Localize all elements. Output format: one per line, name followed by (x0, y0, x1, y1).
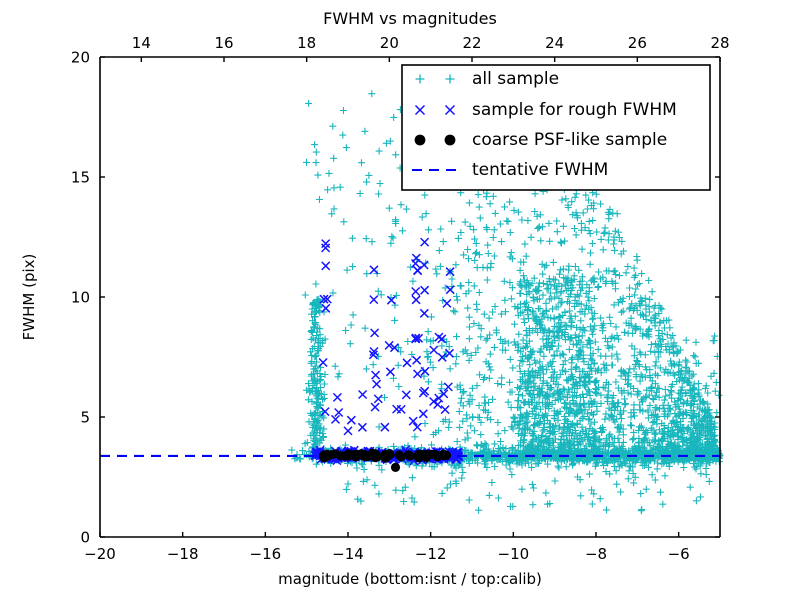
top-x-tick-label: 24 (545, 34, 564, 52)
top-x-tick-label: 14 (132, 34, 151, 52)
y-tick-label: 0 (80, 529, 90, 547)
chart-title: FWHM vs magnitudes (323, 9, 497, 28)
legend-label: sample for rough FWHM (472, 100, 677, 120)
x-tick-label: −14 (332, 545, 364, 563)
y-tick-label: 5 (80, 409, 90, 427)
y-tick-label: 20 (71, 49, 90, 67)
top-x-tick-label: 18 (297, 34, 316, 52)
legend-label: coarse PSF-like sample (472, 130, 667, 150)
x-tick-label: −20 (84, 545, 116, 563)
top-x-tick-label: 22 (462, 34, 481, 52)
top-x-tick-label: 28 (710, 34, 729, 52)
x-tick-label: −10 (498, 545, 530, 563)
x-axis-label: magnitude (bottom:isnt / top:calib) (278, 570, 542, 588)
chart-legend[interactable]: all samplesample for rough FWHMcoarse PS… (402, 65, 710, 190)
legend-label: tentative FWHM (472, 160, 608, 180)
y-axis-label: FWHM (pix) (20, 254, 38, 341)
fwhm-vs-magnitude-scatter-plot: −20−18−16−14−12−10−8−6141618202224262805… (0, 0, 800, 600)
y-tick-label: 10 (71, 289, 90, 307)
top-x-tick-label: 26 (628, 34, 647, 52)
x-tick-label: −16 (250, 545, 282, 563)
x-tick-label: −12 (415, 545, 447, 563)
top-x-tick-label: 16 (214, 34, 233, 52)
x-tick-label: −18 (167, 545, 199, 563)
legend-label: all sample (472, 69, 559, 89)
figure-canvas: −20−18−16−14−12−10−8−6141618202224262805… (0, 0, 800, 600)
top-x-tick-label: 20 (380, 34, 399, 52)
x-tick-label: −6 (668, 545, 690, 563)
y-tick-label: 15 (71, 169, 90, 187)
x-tick-label: −8 (585, 545, 607, 563)
